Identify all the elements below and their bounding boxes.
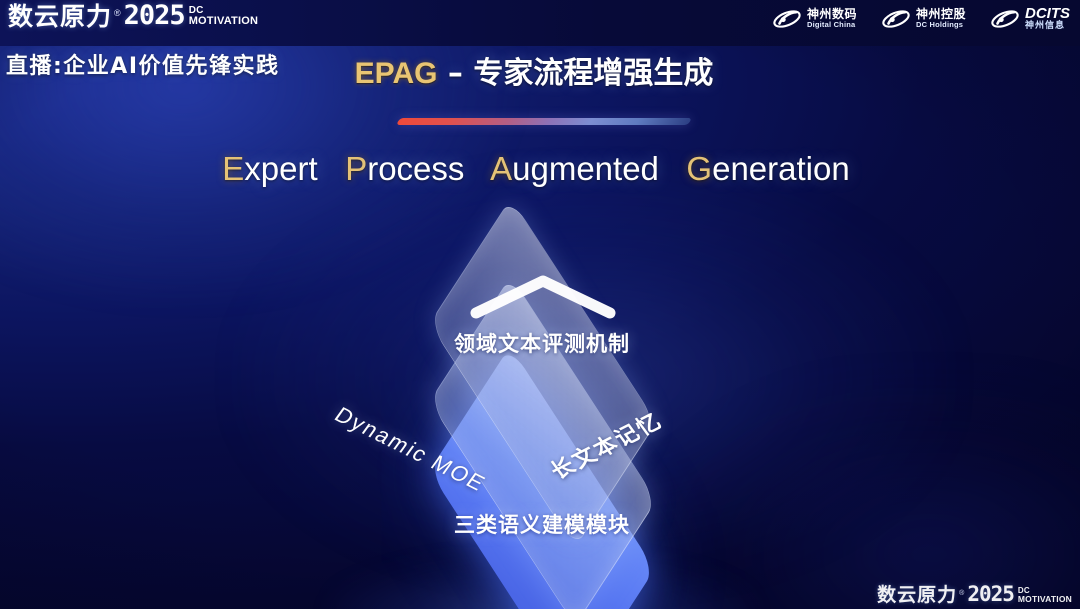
subtitle-word-process: Process	[345, 150, 464, 187]
partner-name-en: Digital China	[807, 21, 857, 29]
brand-name-cn: 数云原力	[8, 4, 112, 29]
subtitle-space	[327, 150, 336, 187]
partner-logo-digital-china: 神州数码 Digital China	[772, 7, 857, 31]
partner-logo-dcits: DCITS 神州信息	[990, 6, 1070, 32]
partner-label: 神州控股 DC Holdings	[916, 8, 966, 29]
partner-label: 神州数码 Digital China	[807, 8, 857, 29]
partner-name-en: 神州信息	[1025, 22, 1070, 32]
brand-logo: 数云原力 ® 2025 DC MOTIVATION	[8, 2, 258, 29]
watermark-year: 2025	[967, 584, 1014, 605]
layer-label-bottom: 三类语义建模模块	[292, 509, 792, 539]
title-divider	[396, 118, 692, 125]
layer-label-top: 领域文本评测机制	[292, 328, 792, 358]
swirl-icon	[881, 7, 911, 31]
subtitle-cap: A	[490, 150, 512, 187]
subtitle-space	[668, 150, 677, 187]
subtitle-cap: G	[686, 150, 712, 187]
subtitle-word-expert: Expert	[222, 150, 317, 187]
subtitle-cap: P	[345, 150, 367, 187]
registered-mark-icon: ®	[114, 9, 121, 18]
swirl-icon	[990, 7, 1020, 31]
title-dash: –	[437, 56, 473, 91]
partner-label: DCITS 神州信息	[1025, 6, 1070, 32]
title-chinese: 专家流程增强生成	[473, 56, 713, 91]
subtitle-cap: E	[222, 150, 244, 187]
partner-logo-group: 神州数码 Digital China 神州控股 DC Holdings	[772, 6, 1070, 32]
partner-logo-dc-holdings: 神州控股 DC Holdings	[881, 7, 966, 31]
partner-name-cn: DCITS	[1025, 6, 1070, 22]
watermark-logo: 数云原力 ® 2025 DC MOTIVATION	[877, 584, 1072, 605]
watermark-dc-motivation: DC MOTIVATION	[1018, 587, 1072, 604]
slide-canvas: 数云原力 ® 2025 DC MOTIVATION 直播:企业AI价值先锋实践 …	[0, 0, 1080, 609]
subtitle-word-augmented: Augmented	[490, 150, 659, 187]
brand-dc-motivation: DC MOTIVATION	[189, 6, 258, 27]
subtitle-space	[474, 150, 483, 187]
live-broadcast-label: 直播:企业AI价值先锋实践	[6, 48, 280, 80]
layered-architecture-diagram: 领域文本评测机制 Dynamic MOE 长文本记忆 三类语义建模模块	[292, 228, 792, 578]
layer-plate-top	[429, 198, 657, 548]
subtitle-rest: eneration	[712, 150, 850, 187]
page-subtitle: Expert Process Augmented Generation	[0, 150, 1076, 188]
watermark-motivation-label: MOTIVATION	[1018, 595, 1072, 604]
subtitle-rest: rocess	[367, 150, 464, 187]
subtitle-rest: ugmented	[512, 150, 659, 187]
swirl-icon	[772, 7, 802, 31]
watermark-name-cn: 数云原力	[877, 586, 957, 605]
partner-name-en: DC Holdings	[916, 21, 966, 29]
subtitle-word-generation: Generation	[686, 150, 849, 187]
subtitle-rest: xpert	[244, 150, 317, 187]
title-acronym: EPAG	[355, 57, 438, 90]
watermark-registered-mark-icon: ®	[959, 590, 964, 597]
brand-year: 2025	[124, 2, 185, 29]
chevron-up-icon	[468, 273, 618, 319]
brand-motivation-label: MOTIVATION	[189, 16, 258, 27]
